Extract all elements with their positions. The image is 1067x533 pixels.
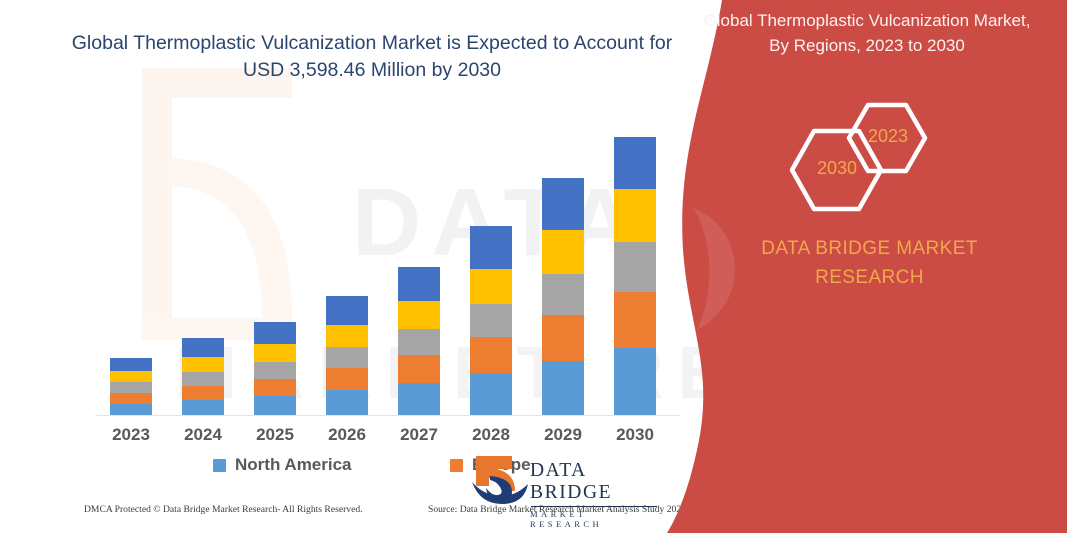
footer-copyright: DMCA Protected © Data Bridge Market Rese… bbox=[84, 504, 363, 515]
bar-chart-plot bbox=[95, 120, 680, 416]
bar-2025 bbox=[254, 322, 296, 416]
bar-segment-middle-east-and-africa-2030 bbox=[614, 137, 656, 189]
bar-2030 bbox=[614, 137, 656, 416]
bar-segment-south-america-2030 bbox=[614, 189, 656, 242]
infographic-canvas: DATA BRIDGE MARKET RESEARCH Global Therm… bbox=[0, 0, 1067, 533]
logo-name: DATA BRIDGE bbox=[530, 460, 660, 504]
bar-segment-asia-pacific-2023 bbox=[110, 382, 152, 393]
bar-segment-asia-pacific-2025 bbox=[254, 362, 296, 379]
bar-segment-north-america-2030 bbox=[614, 348, 656, 416]
legend-swatch bbox=[213, 459, 226, 472]
x-axis-line bbox=[95, 415, 680, 416]
legend-item-north-america[interactable]: North America bbox=[213, 455, 352, 475]
bar-segment-middle-east-and-africa-2025 bbox=[254, 322, 296, 344]
bar-segment-europe-2030 bbox=[614, 292, 656, 348]
bar-segment-south-america-2028 bbox=[470, 269, 512, 304]
x-axis-label-2025: 2025 bbox=[239, 425, 311, 445]
panel-title: Global Thermoplastic Vulcanization Marke… bbox=[702, 8, 1032, 58]
bar-segment-middle-east-and-africa-2027 bbox=[398, 267, 440, 301]
x-axis-label-2023: 2023 bbox=[95, 425, 167, 445]
bar-segment-middle-east-and-africa-2029 bbox=[542, 178, 584, 230]
data-bridge-logo: DATA BRIDGE MARKET RESEARCH bbox=[470, 452, 660, 514]
bar-segment-asia-pacific-2028 bbox=[470, 304, 512, 337]
bar-segment-europe-2024 bbox=[182, 386, 224, 400]
bar-segment-europe-2028 bbox=[470, 337, 512, 373]
bar-2026 bbox=[326, 296, 368, 416]
legend-label: North America bbox=[235, 455, 352, 475]
panel-brand-line-2: RESEARCH bbox=[815, 267, 924, 288]
bar-segment-south-america-2024 bbox=[182, 357, 224, 372]
bar-segment-north-america-2027 bbox=[398, 383, 440, 416]
bar-segment-europe-2026 bbox=[326, 368, 368, 390]
bar-segment-asia-pacific-2027 bbox=[398, 329, 440, 355]
bar-segment-europe-2029 bbox=[542, 315, 584, 361]
legend-swatch bbox=[450, 459, 463, 472]
bar-segment-europe-2025 bbox=[254, 379, 296, 396]
bar-segment-middle-east-and-africa-2024 bbox=[182, 338, 224, 357]
x-axis-label-2027: 2027 bbox=[383, 425, 455, 445]
x-axis-label-2028: 2028 bbox=[455, 425, 527, 445]
bar-segment-north-america-2028 bbox=[470, 373, 512, 416]
x-axis-label-2024: 2024 bbox=[167, 425, 239, 445]
bar-segment-asia-pacific-2024 bbox=[182, 372, 224, 386]
bar-2029 bbox=[542, 178, 584, 416]
right-red-panel: Global Thermoplastic Vulcanization Marke… bbox=[667, 0, 1067, 533]
bar-segment-europe-2027 bbox=[398, 355, 440, 383]
panel-brand-text: DATA BRIDGE MARKET RESEARCH bbox=[727, 234, 1012, 292]
bar-segment-south-america-2025 bbox=[254, 344, 296, 362]
bar-2028 bbox=[470, 226, 512, 416]
bar-segment-europe-2023 bbox=[110, 393, 152, 404]
chart-title: Global Thermoplastic Vulcanization Marke… bbox=[62, 30, 682, 84]
bar-segment-north-america-2025 bbox=[254, 396, 296, 416]
logo-divider bbox=[531, 506, 657, 507]
bar-2024 bbox=[182, 338, 224, 416]
data-bridge-logo-mark bbox=[470, 452, 528, 508]
bar-segment-south-america-2026 bbox=[326, 325, 368, 347]
bar-segment-middle-east-and-africa-2026 bbox=[326, 296, 368, 325]
bar-segment-south-america-2023 bbox=[110, 371, 152, 382]
bar-segment-asia-pacific-2026 bbox=[326, 347, 368, 368]
bar-segment-asia-pacific-2030 bbox=[614, 242, 656, 292]
bar-segment-north-america-2026 bbox=[326, 390, 368, 416]
bar-segment-north-america-2029 bbox=[542, 361, 584, 416]
x-axis-label-2026: 2026 bbox=[311, 425, 383, 445]
bar-2027 bbox=[398, 267, 440, 416]
bar-segment-south-america-2029 bbox=[542, 230, 584, 274]
panel-brand-line-1: DATA BRIDGE MARKET bbox=[761, 238, 978, 259]
bar-segment-south-america-2027 bbox=[398, 301, 440, 329]
bar-segment-asia-pacific-2029 bbox=[542, 274, 584, 315]
x-axis-label-2030: 2030 bbox=[599, 425, 671, 445]
bar-2023 bbox=[110, 358, 152, 416]
logo-text: DATA BRIDGE MARKET RESEARCH bbox=[530, 460, 660, 529]
bar-segment-middle-east-and-africa-2028 bbox=[470, 226, 512, 269]
logo-tagline: MARKET RESEARCH bbox=[530, 509, 660, 529]
x-axis-label-2029: 2029 bbox=[527, 425, 599, 445]
bar-segment-north-america-2024 bbox=[182, 400, 224, 416]
bar-segment-middle-east-and-africa-2023 bbox=[110, 358, 152, 371]
x-axis-labels: 20232024202520262027202820292030 bbox=[95, 425, 680, 451]
